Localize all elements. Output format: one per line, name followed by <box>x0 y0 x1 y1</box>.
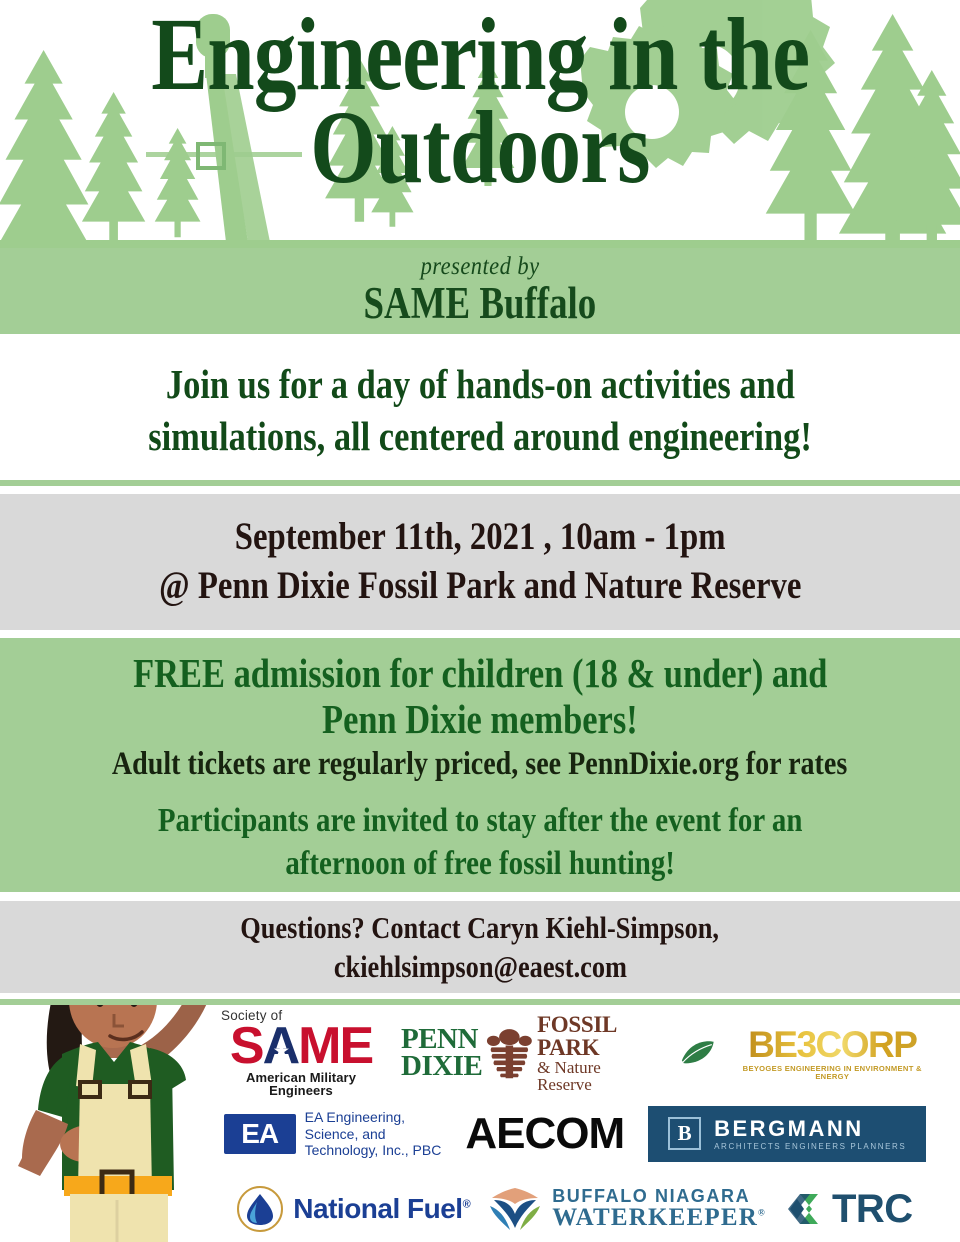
logo-penn-dixie[interactable]: PENN DIXIE <box>401 1013 716 1094</box>
bergmann-tagline: ARCHITECTS ENGINEERS PLANNERS <box>714 1143 906 1152</box>
event-date: September 11th, 2021 , 10am - 1pm <box>235 514 726 561</box>
stay-line-1: Participants are invited to stay after t… <box>158 800 803 843</box>
same-acronym: S A ★ ME <box>215 1023 387 1071</box>
ea-mark-icon: EA <box>224 1114 296 1154</box>
ea-company-name: EA Engineering, Science, and Technology,… <box>305 1109 442 1159</box>
bergmann-b-icon: B <box>668 1117 701 1150</box>
eye-right <box>130 1005 138 1007</box>
intro-band: Join us for a day of hands-on activities… <box>0 340 960 480</box>
spacer-4 <box>0 892 960 901</box>
logo-trc[interactable]: TRC <box>784 1187 913 1232</box>
pricing-note: Adult tickets are regularly priced, see … <box>112 745 847 785</box>
penn-dixie-word-2: DIXIE <box>401 1053 482 1080</box>
same-letter-a: A ★ <box>263 1023 299 1071</box>
flyer-poster: Engineering in the Outdoors presented by… <box>0 0 960 1242</box>
belt-buckle <box>102 1172 132 1200</box>
event-location: @ Penn Dixie Fossil Park and Nature Rese… <box>159 563 801 610</box>
waterkeeper-line-1: BUFFALO NIAGARA <box>552 1187 766 1206</box>
penn-dixie-word-1: PENN <box>401 1026 482 1053</box>
bergmann-wordmark: BERGMANN <box>714 1117 906 1141</box>
logo-aecom[interactable]: AECOM <box>465 1109 624 1159</box>
sponsor-row-1: Society of S A ★ ME American Military En… <box>215 1007 935 1099</box>
sponsor-logos-area: Society of S A ★ ME American Military En… <box>0 1005 960 1242</box>
same-letters-me: ME <box>298 1023 372 1071</box>
penn-dixie-subtitle: FOSSIL PARK & Nature Reserve <box>537 1013 674 1094</box>
trc-arrow-icon <box>784 1190 824 1228</box>
hero-header: Engineering in the Outdoors <box>0 0 960 248</box>
sponsor-row-3: National Fuel® BUFFALO NIAGARA <box>215 1169 935 1242</box>
ea-line-1: EA Engineering, <box>305 1109 442 1126</box>
waterkeeper-line-2: WATERKEEPER® <box>552 1205 766 1231</box>
presented-by-band: presented by SAME Buffalo <box>0 248 960 334</box>
sponsor-row-2: EA EA Engineering, Science, and Technolo… <box>215 1099 935 1169</box>
star-icon: ★ <box>274 1042 287 1059</box>
trilobite-icon <box>486 1027 533 1079</box>
page-title-line2: Outdoors <box>310 99 649 198</box>
contact-name-line: Questions? Contact Caryn Kiehl-Simpson, <box>241 909 720 946</box>
registered-mark: ® <box>463 1199 471 1211</box>
admission-band: FREE admission for children (18 & under)… <box>0 644 960 892</box>
logo-national-fuel[interactable]: National Fuel® <box>237 1186 470 1232</box>
stay-after-note: Participants are invited to stay after t… <box>101 800 859 885</box>
free-admission-line-1: FREE admission for children (18 & under)… <box>133 651 827 697</box>
flame-drop-icon <box>237 1186 283 1232</box>
spacer-3 <box>0 630 960 638</box>
registered-mark-wk: ® <box>758 1208 766 1218</box>
engineer-character-illustration <box>18 1005 238 1242</box>
penn-dixie-wordmark: PENN DIXIE <box>401 1026 482 1079</box>
aecom-wordmark: AECOM <box>465 1109 624 1159</box>
fossil-park-label: FOSSIL PARK <box>537 1013 674 1059</box>
leaf-icon <box>680 1039 716 1067</box>
logo-be3corp[interactable]: BE3CORP BEYOGES ENGINEERING IN ENVIRONME… <box>730 1026 935 1080</box>
nature-label: & Nature <box>537 1059 674 1076</box>
ea-line-2: Science, and <box>305 1126 442 1143</box>
spacer-2 <box>0 486 960 494</box>
organization-name: SAME Buffalo <box>364 280 597 327</box>
strap-buckle-left <box>80 1082 100 1097</box>
logo-bergmann[interactable]: B BERGMANN ARCHITECTS ENGINEERS PLANNERS <box>648 1106 926 1163</box>
trc-wordmark: TRC <box>832 1187 913 1232</box>
stay-line-2: afternoon of free fossil hunting! <box>158 843 803 886</box>
same-letter-s: S <box>230 1023 263 1071</box>
be3-wordmark: BE3CORP <box>730 1026 935 1063</box>
contact-email[interactable]: ckiehlsimpson@eaest.com <box>333 948 626 985</box>
logo-ea-engineering[interactable]: EA EA Engineering, Science, and Technolo… <box>224 1109 442 1159</box>
contact-band: Questions? Contact Caryn Kiehl-Simpson, … <box>0 901 960 993</box>
ea-line-3: Technology, Inc., PBC <box>305 1142 442 1159</box>
strap-buckle-right <box>130 1082 150 1097</box>
eye-left <box>96 1005 104 1007</box>
presented-by-label: presented by <box>421 254 540 279</box>
intro-line-1: Join us for a day of hands-on activities… <box>166 360 795 408</box>
be3-tagline: BEYOGES ENGINEERING IN ENVIRONMENT & ENE… <box>730 1065 935 1080</box>
logo-same[interactable]: Society of S A ★ ME American Military En… <box>215 1009 387 1096</box>
waterkeeper-wave-icon <box>488 1186 542 1232</box>
free-admission-line-2: Penn Dixie members! <box>322 697 638 743</box>
intro-line-2: simulations, all centered around enginee… <box>148 412 812 460</box>
date-location-band: September 11th, 2021 , 10am - 1pm @ Penn… <box>0 494 960 630</box>
logo-buffalo-niagara-waterkeeper[interactable]: BUFFALO NIAGARA WATERKEEPER® <box>488 1186 766 1232</box>
reserve-label: Reserve <box>537 1076 674 1093</box>
pointing-hand <box>60 1124 130 1162</box>
national-fuel-wordmark: National Fuel® <box>293 1193 470 1225</box>
